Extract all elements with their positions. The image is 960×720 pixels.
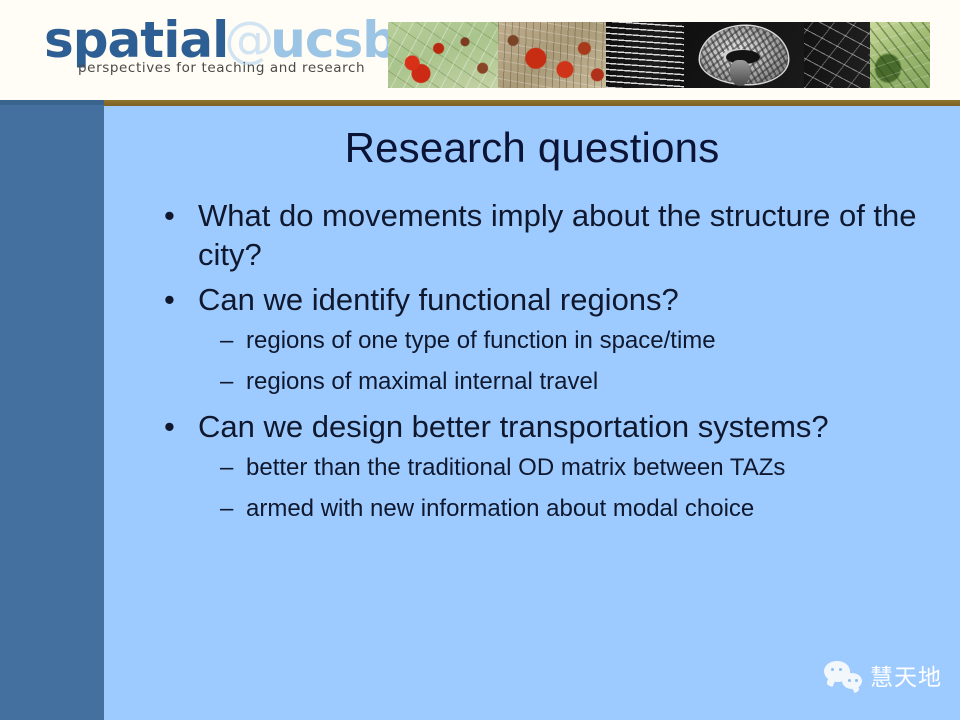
wechat-dot bbox=[839, 668, 842, 671]
sub-list-item: – better than the traditional OD matrix … bbox=[198, 452, 960, 483]
list-item: • Can we identify functional regions? – … bbox=[156, 280, 960, 397]
logo-tagline: perspectives for teaching and research bbox=[78, 60, 365, 76]
sub-list-item: – regions of one type of function in spa… bbox=[198, 325, 960, 356]
dash-marker-icon: – bbox=[220, 452, 233, 483]
bullet-text: Can we identify functional regions? bbox=[198, 280, 960, 319]
slide-body: Research questions • What do movements i… bbox=[104, 106, 960, 720]
bullet-text: Can we design better transportation syst… bbox=[198, 407, 960, 446]
spatial-ucsb-logo: spatial@ucsb perspectives for teaching a… bbox=[44, 14, 354, 82]
bullet-list-level2: – better than the traditional OD matrix … bbox=[198, 452, 960, 524]
wechat-bubble-small bbox=[842, 673, 862, 689]
list-item: • What do movements imply about the stru… bbox=[156, 196, 960, 274]
header-image-strip bbox=[388, 22, 930, 88]
bullet-list-level1: • What do movements imply about the stru… bbox=[156, 196, 960, 524]
sub-bullet-text: armed with new information about modal c… bbox=[246, 493, 960, 524]
dash-marker-icon: – bbox=[220, 325, 233, 356]
page-title: Research questions bbox=[104, 124, 960, 172]
terrain-imagery-green-panel bbox=[870, 22, 930, 88]
satellite-imagery-red-green-panel bbox=[388, 22, 498, 88]
bullet-marker-icon: • bbox=[164, 407, 175, 446]
watermark-label: 慧天地 bbox=[870, 658, 942, 692]
sub-bullet-text: regions of one type of function in space… bbox=[246, 325, 960, 356]
dash-marker-icon: – bbox=[220, 366, 233, 397]
wechat-icon bbox=[824, 661, 862, 689]
wechat-watermark: 慧天地 bbox=[824, 658, 942, 692]
list-item: • Can we design better transportation sy… bbox=[156, 407, 960, 524]
slide-content: • What do movements imply about the stru… bbox=[156, 196, 960, 534]
brain-stem bbox=[730, 60, 750, 86]
bullet-list-level2: – regions of one type of function in spa… bbox=[198, 325, 960, 397]
wechat-dot bbox=[831, 668, 834, 671]
left-sidebar-band bbox=[0, 100, 104, 720]
logo-wordmark: spatial@ucsb bbox=[44, 14, 397, 66]
grid-lines-dark-panel bbox=[606, 22, 684, 88]
bullet-marker-icon: • bbox=[164, 280, 175, 319]
sub-list-item: – armed with new information about modal… bbox=[198, 493, 960, 524]
slide-header: spatial@ucsb perspectives for teaching a… bbox=[0, 0, 960, 100]
sub-bullet-text: better than the traditional OD matrix be… bbox=[246, 452, 960, 483]
satellite-imagery-urban-panel bbox=[498, 22, 606, 88]
dash-marker-icon: – bbox=[220, 493, 233, 524]
sub-list-item: – regions of maximal internal travel bbox=[198, 366, 960, 397]
sidebar-top-cap bbox=[0, 100, 104, 105]
bullet-marker-icon: • bbox=[164, 196, 175, 235]
wechat-dot bbox=[855, 679, 858, 682]
bullet-text: What do movements imply about the struct… bbox=[198, 196, 960, 274]
brain-mri-sagittal-panel bbox=[684, 22, 804, 88]
wechat-dot bbox=[848, 679, 851, 682]
sub-bullet-text: regions of maximal internal travel bbox=[246, 366, 960, 397]
spiderweb-lines-dark-panel bbox=[804, 22, 870, 88]
presentation-slide: spatial@ucsb perspectives for teaching a… bbox=[0, 0, 960, 720]
